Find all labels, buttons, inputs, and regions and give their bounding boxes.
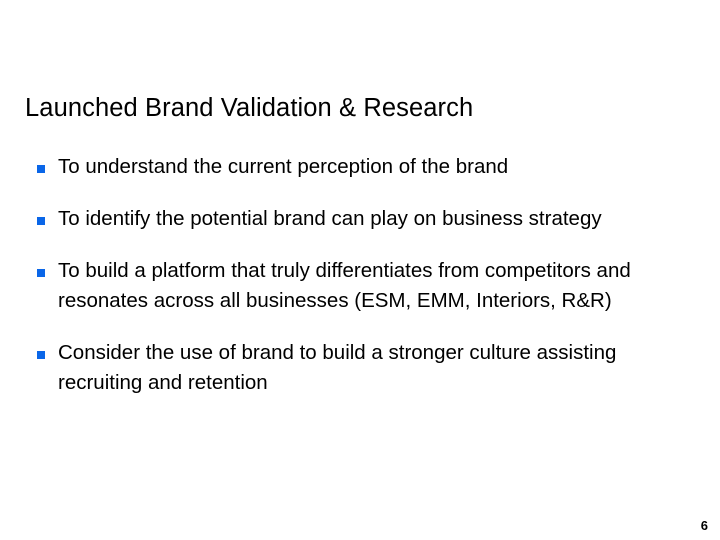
square-bullet-icon xyxy=(37,269,45,277)
list-item-label: To understand the current perception of … xyxy=(58,152,675,182)
list-item: To build a platform that truly different… xyxy=(25,256,675,316)
slide-canvas: Launched Brand Validation & Research To … xyxy=(0,0,720,540)
list-item: To identify the potential brand can play… xyxy=(25,204,675,234)
list-item: To understand the current perception of … xyxy=(25,152,675,182)
page-number: 6 xyxy=(701,518,708,534)
square-bullet-icon xyxy=(37,217,45,225)
list-item: Consider the use of brand to build a str… xyxy=(25,338,675,398)
square-bullet-icon xyxy=(37,351,45,359)
bullet-list: To understand the current perception of … xyxy=(25,152,675,398)
list-item-label: Consider the use of brand to build a str… xyxy=(58,338,675,398)
list-item-label: To build a platform that truly different… xyxy=(58,256,675,316)
list-item-label: To identify the potential brand can play… xyxy=(58,204,675,234)
square-bullet-icon xyxy=(37,165,45,173)
page-title: Launched Brand Validation & Research xyxy=(25,93,685,123)
